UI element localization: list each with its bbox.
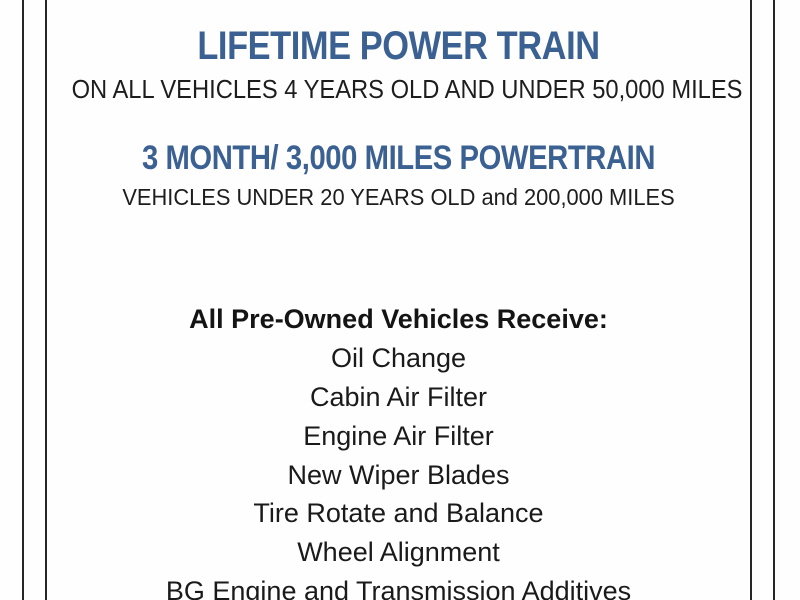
service-item: Wheel Alignment: [47, 533, 750, 572]
flyer-content: LIFETIME POWER TRAIN ON ALL VEHICLES 4 Y…: [47, 0, 750, 600]
service-item: Cabin Air Filter: [47, 378, 750, 417]
service-item: Tire Rotate and Balance: [47, 494, 750, 533]
border-rule-left-outer: [22, 0, 24, 600]
services-section: All Pre-Owned Vehicles Receive: Oil Chan…: [47, 300, 750, 600]
service-item: New Wiper Blades: [47, 456, 750, 495]
warranty-subline-three-month: VEHICLES UNDER 20 YEARS OLD and 200,000 …: [72, 185, 726, 210]
warranty-headline-three-month: 3 MONTH/ 3,000 MILES POWERTRAIN: [96, 141, 701, 176]
warranty-subline-lifetime: ON ALL VEHICLES 4 YEARS OLD AND UNDER 50…: [72, 77, 726, 104]
warranty-flyer: LIFETIME POWER TRAIN ON ALL VEHICLES 4 Y…: [0, 0, 800, 600]
service-item: BG Engine and Transmission Additives: [47, 572, 750, 600]
warranty-block-lifetime: LIFETIME POWER TRAIN ON ALL VEHICLES 4 Y…: [47, 26, 750, 104]
warranty-headline-lifetime: LIFETIME POWER TRAIN: [96, 26, 701, 67]
border-rule-right-outer: [773, 0, 775, 600]
services-title: All Pre-Owned Vehicles Receive:: [47, 300, 750, 339]
warranty-block-three-month: 3 MONTH/ 3,000 MILES POWERTRAIN VEHICLES…: [47, 141, 750, 209]
service-item: Engine Air Filter: [47, 417, 750, 456]
service-item: Oil Change: [47, 339, 750, 378]
border-rule-right-inner: [750, 0, 752, 600]
